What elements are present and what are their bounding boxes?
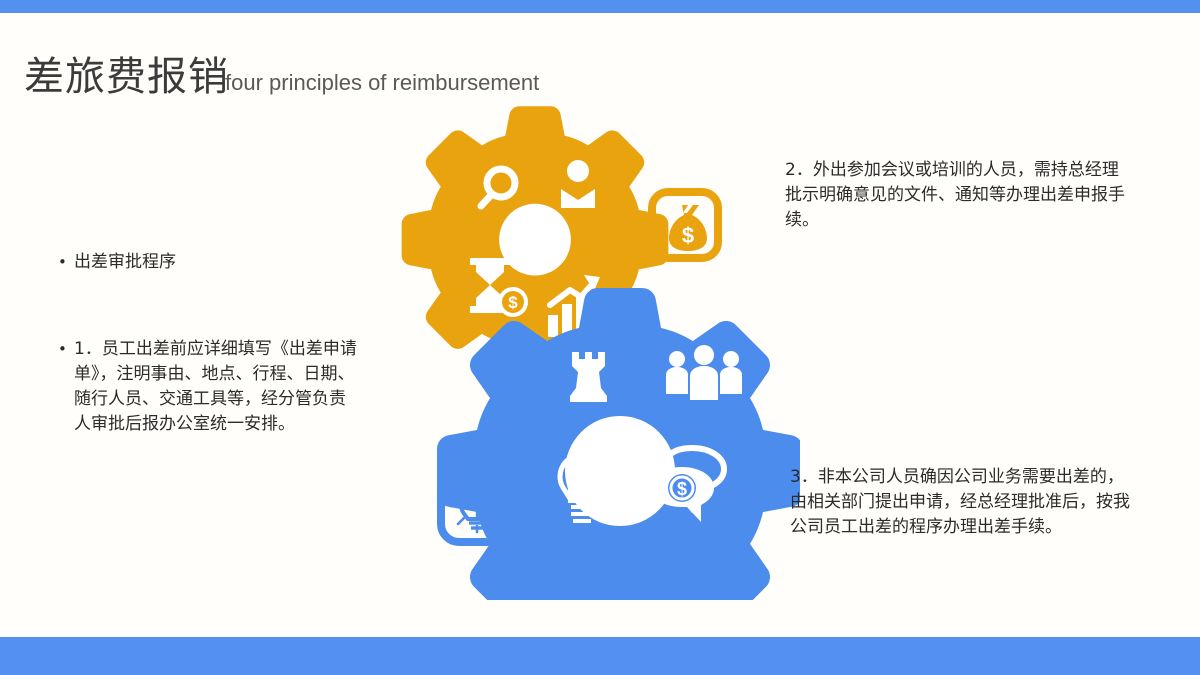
list-item: • 1．员工出差前应详细填写《出差申请单》，注明事由、地点、行程、日期、随行人员… xyxy=(58,337,358,437)
bottom-accent-bar xyxy=(0,637,1200,675)
top-accent-bar xyxy=(0,0,1200,13)
svg-text:$: $ xyxy=(682,223,694,248)
slide-header: 差旅费报销 four principles of reimbursement xyxy=(0,28,1200,88)
left-bullet-2-text: 1．员工出差前应详细填写《出差申请单》，注明事由、地点、行程、日期、随行人员、交… xyxy=(74,337,358,437)
svg-text:$: $ xyxy=(508,293,518,312)
list-item: • 出差审批程序 xyxy=(58,250,358,275)
svg-text:$: $ xyxy=(677,479,687,499)
slide-canvas: 差旅费报销 four principles of reimbursement xyxy=(0,0,1200,675)
team-group-icon xyxy=(666,345,742,400)
page-subtitle: four principles of reimbursement xyxy=(225,68,539,98)
money-bag-icon: $ xyxy=(669,205,707,251)
right-text-block-1: 2．外出参加会议或培训的人员，需持总经理批示明确意见的文件、通知等办理出差申报手… xyxy=(785,158,1130,233)
right-text-block-2: 3．非本公司人员确因公司业务需要出差的，由相关部门提出申请，经总经理批准后，按我… xyxy=(790,465,1135,540)
page-title: 差旅费报销 xyxy=(24,54,229,100)
bullet-marker: • xyxy=(58,337,74,362)
gears-illustration: $ $ xyxy=(400,100,800,600)
left-bullet-1-text: 出差审批程序 xyxy=(74,250,358,275)
left-text-block: • 出差审批程序 • 1．员工出差前应详细填写《出差申请单》，注明事由、地点、行… xyxy=(58,200,358,499)
blue-gear xyxy=(451,302,789,600)
bullet-marker: • xyxy=(58,250,74,275)
